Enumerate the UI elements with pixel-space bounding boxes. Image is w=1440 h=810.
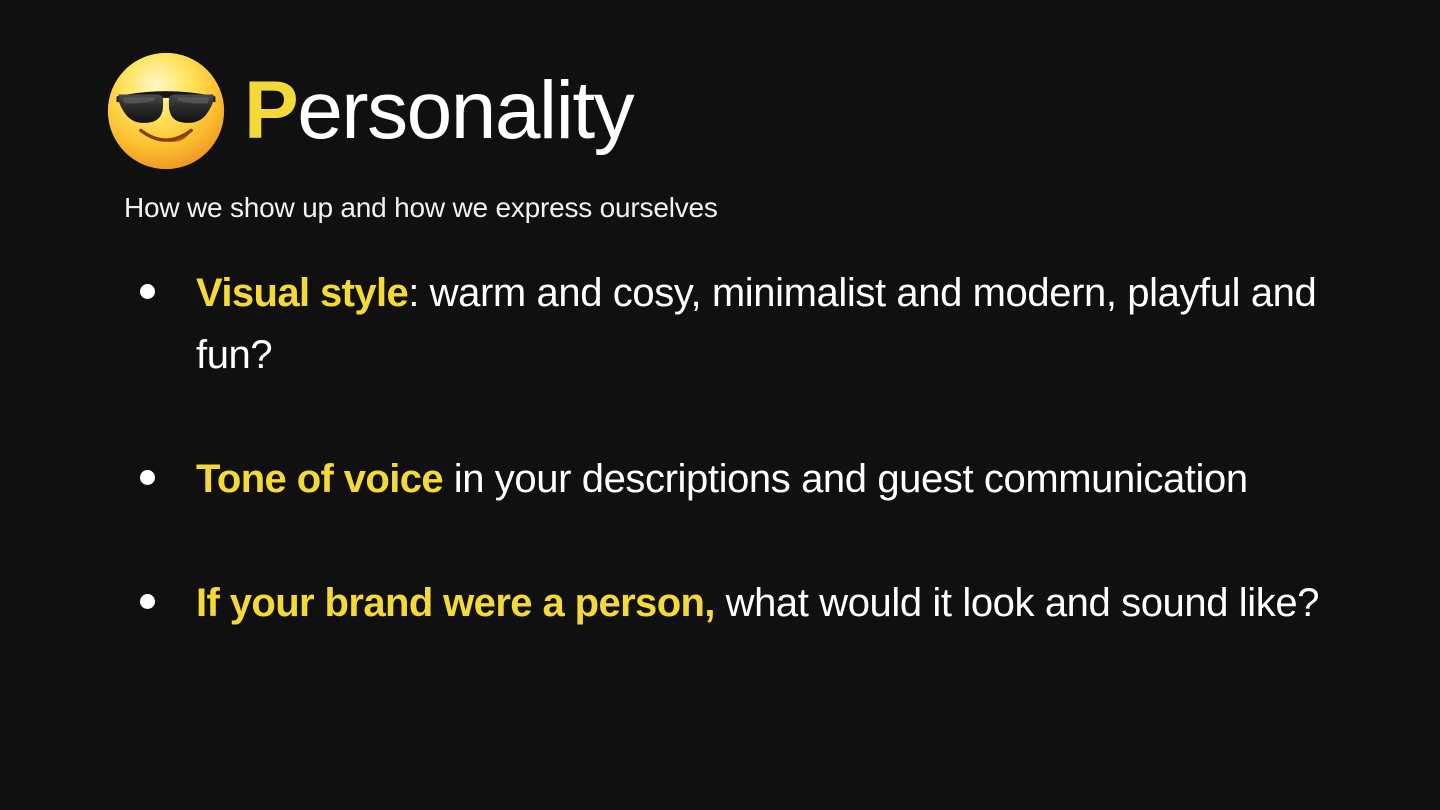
list-item: Tone of voice in your descriptions and g… — [124, 448, 1354, 510]
list-item-lead: Tone of voice — [196, 457, 443, 501]
list-item-lead: If your brand were a person, — [196, 581, 715, 625]
list-item: Visual style: warm and cosy, minimalist … — [124, 262, 1354, 386]
page-title-rest: ersonality — [297, 65, 633, 156]
bullet-list: Visual style: warm and cosy, minimalist … — [124, 262, 1354, 634]
list-item-text: Tone of voice in your descriptions and g… — [196, 448, 1354, 510]
bullet-point-icon — [140, 470, 155, 485]
smiling-face-with-sunglasses-emoji — [104, 49, 228, 173]
list-item: If your brand were a person, what would … — [124, 572, 1354, 634]
list-item-text: If your brand were a person, what would … — [196, 572, 1354, 634]
list-item-rest: what would it look and sound like? — [715, 581, 1319, 625]
bullet-point-icon — [140, 594, 155, 609]
slide-subtitle: How we show up and how we express oursel… — [124, 190, 718, 225]
slide-header: Personality — [104, 46, 633, 176]
list-item-text: Visual style: warm and cosy, minimalist … — [196, 262, 1354, 386]
bullet-point-icon — [140, 284, 155, 299]
page-title: Personality — [244, 70, 633, 152]
list-item-lead: Visual style — [196, 271, 408, 315]
slide-canvas: Personality How we show up and how we ex… — [0, 0, 1440, 810]
list-item-rest: in your descriptions and guest communica… — [443, 457, 1248, 501]
page-title-accent: P — [244, 65, 297, 156]
